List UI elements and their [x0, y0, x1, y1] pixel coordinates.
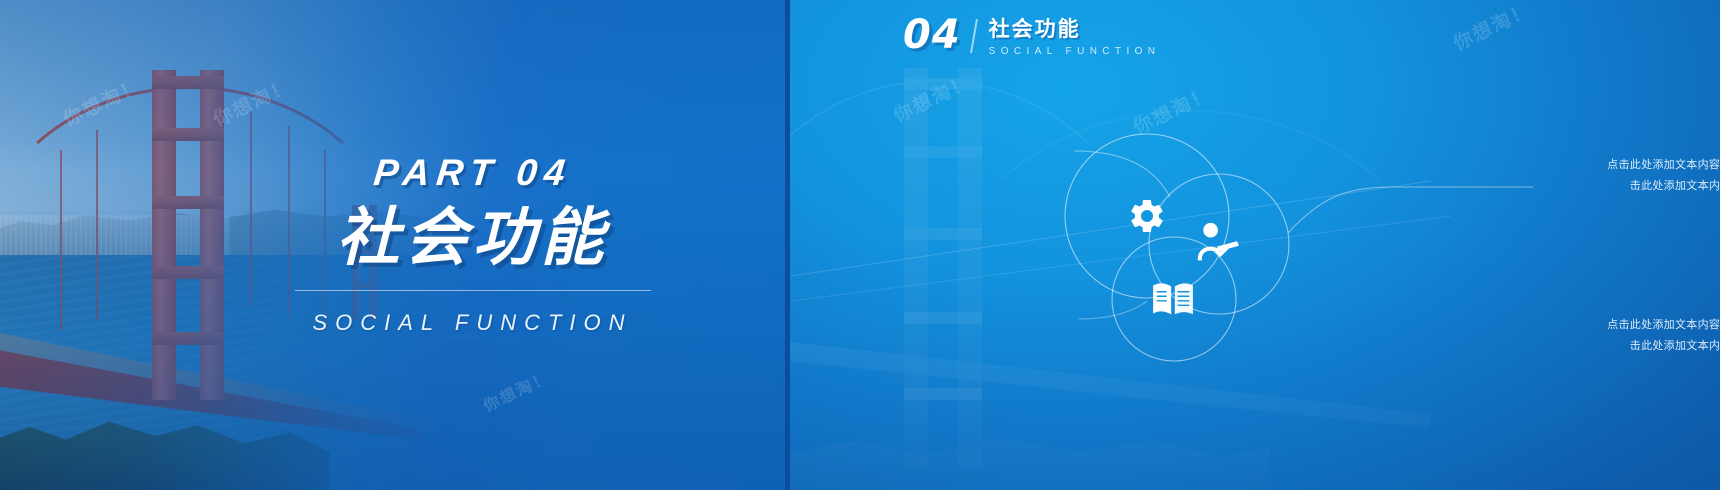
page-title: 社会功能 [337, 205, 609, 271]
text-block-2: 标题文字添加 点击此处添加文本内容·如关键词、部分简单介绍等·点击此处添加文本内… [1605, 278, 1720, 356]
text-block-1: 标题文字添加 点击此处添加文本内容·如关键词、部分简单介绍等·点击此处添加文本内… [1605, 118, 1720, 196]
text-block-body: 点击此处添加文本内容·如关键词、部分简单介绍等·点击此处添加文本内容·如关键词、… [1605, 155, 1720, 196]
header-title-cn: 社会功能 [989, 18, 1161, 42]
person-reading-icon [1195, 222, 1239, 269]
text-block-title: 标题文字添加 [1605, 278, 1720, 304]
slide-header: 04 社会功能 SOCIAL FUNCTION [903, 16, 1160, 57]
header-title-en: SOCIAL FUNCTION [989, 46, 1161, 57]
slide-deck: PART 04 社会功能 SOCIAL FUNCTION 你想淘！ 你想淘！ 你… [0, 0, 1720, 490]
section-content-slide: 04 社会功能 SOCIAL FUNCTION [790, 0, 1720, 490]
section-cover-slide: PART 04 社会功能 SOCIAL FUNCTION 你想淘！ 你想淘！ 你… [0, 0, 785, 490]
gear-icon [1127, 196, 1167, 241]
text-block-body: 点击此处添加文本内容·如关键词、部分简单介绍等·点击此处添加文本内容·如关键词、… [1605, 315, 1720, 356]
page-subtitle: SOCIAL FUNCTION [312, 310, 632, 336]
text-block-title: 标题文字添加 [1605, 118, 1720, 144]
background-bridge-ghost [790, 0, 1720, 490]
open-book-icon [1151, 280, 1195, 323]
section-number: 04 [903, 16, 973, 54]
part-label: PART 04 [372, 154, 574, 191]
cover-text-group: PART 04 社会功能 SOCIAL FUNCTION [0, 0, 785, 490]
divider [295, 290, 651, 291]
